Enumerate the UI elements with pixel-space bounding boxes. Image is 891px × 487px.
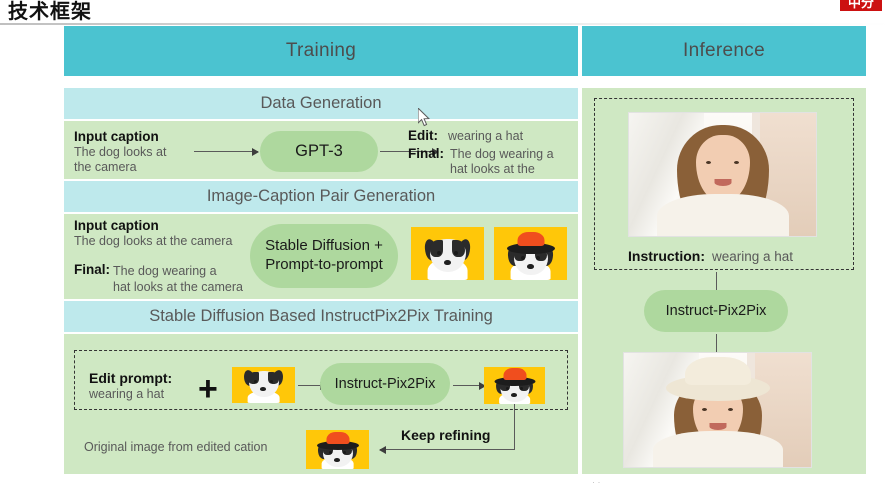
instruct-pix2pix-inference-node: Instruct-Pix2Pix [644, 290, 788, 332]
feedback-line-horizontal [380, 449, 515, 450]
mouse-cursor-icon [418, 108, 431, 127]
training-column-header: Training [64, 26, 578, 76]
page-title: 技术框架 [8, 1, 92, 23]
gpt3-label: GPT-3 [295, 141, 343, 162]
section-header-sd-instructpix2pix-training: Stable Diffusion Based InstructPix2Pix T… [64, 301, 578, 332]
dog-image-input-training [232, 367, 295, 403]
section-header-image-caption-pair: Image-Caption Pair Generation [64, 181, 578, 212]
feedback-arrow-head [380, 449, 381, 450]
dog-image-refined [306, 430, 369, 469]
title-divider [0, 23, 891, 25]
pair-final-text: The dog wearing a hat looks at the camer… [113, 263, 253, 295]
stable-diffusion-node: Stable Diffusion + Prompt-to-prompt [250, 224, 398, 288]
pair-input-text: The dog looks at the camera [74, 234, 254, 248]
instruct-pix2pix-training-node: Instruct-Pix2Pix [320, 363, 450, 405]
data-gen-edit-label: Edit: [408, 128, 438, 143]
inference-output-photo [623, 352, 812, 468]
instruct-pix2pix-training-label: Instruct-Pix2Pix [335, 375, 436, 393]
instruction-label: Instruction: [628, 248, 705, 264]
edit-prompt-text: wearing a hat [89, 387, 164, 401]
dog-image-output-training [484, 367, 545, 404]
data-gen-edit-text: wearing a hat [448, 129, 523, 143]
pair-input-label: Input caption [74, 218, 159, 233]
gpt3-node: GPT-3 [260, 131, 378, 172]
arrow-ip2p-to-output [453, 385, 485, 386]
dog-image-plain [411, 227, 484, 280]
pair-final-label: Final: [74, 262, 110, 277]
plus-icon: + [198, 372, 218, 406]
keep-refining-label: Keep refining [401, 427, 490, 443]
edit-prompt-label: Edit prompt: [89, 370, 172, 386]
stable-diffusion-line1: Stable Diffusion + [265, 237, 383, 256]
dog-image-with-hat [494, 227, 567, 280]
page-indicator: · · [592, 477, 601, 487]
section-header-data-generation: Data Generation [64, 88, 578, 119]
arrow-input-to-gpt3 [194, 151, 258, 152]
corner-badge: 中分 [839, 0, 883, 12]
feedback-line-vertical [514, 404, 515, 450]
inference-input-photo [628, 112, 817, 237]
instruction-text: wearing a hat [712, 249, 793, 264]
original-image-caption-label: Original image from edited cation [84, 440, 267, 454]
slide-canvas: 中分 技术框架 Training Data Generation Input c… [0, 0, 891, 487]
data-gen-final-label: Final: [408, 146, 444, 161]
data-gen-input-text: The dog looks at the camera [74, 145, 204, 175]
inference-column-header: Inference [582, 26, 866, 76]
instruct-pix2pix-inference-label: Instruct-Pix2Pix [666, 302, 767, 320]
data-gen-input-label: Input caption [74, 129, 204, 144]
stable-diffusion-line2: Prompt-to-prompt [265, 256, 383, 275]
